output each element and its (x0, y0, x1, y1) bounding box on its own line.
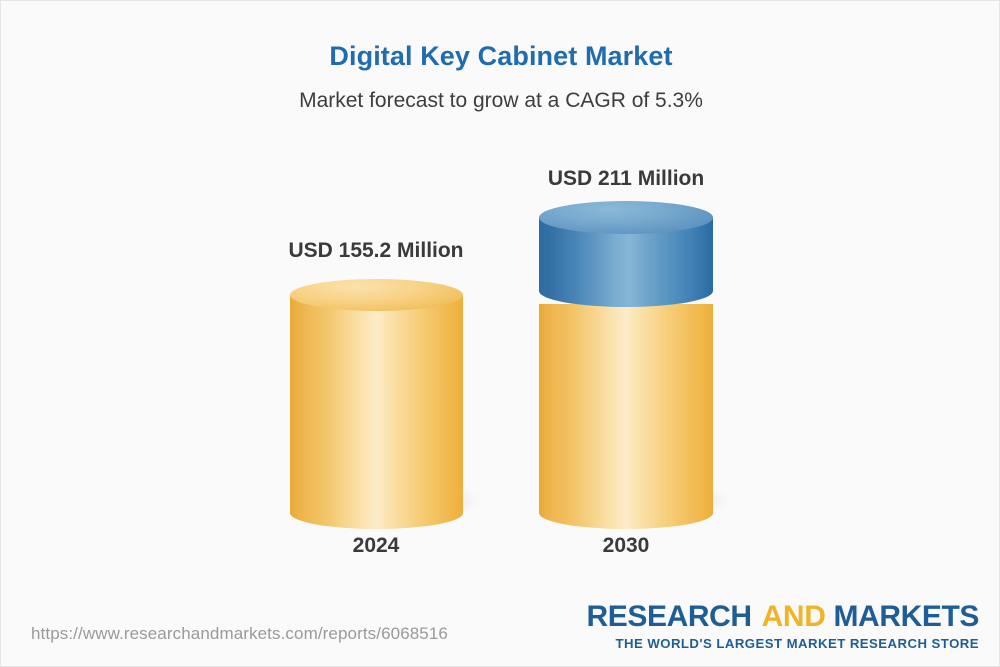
bar-segment-base-2030 (539, 304, 713, 514)
bar-body-2024 (290, 295, 463, 514)
bar-value-label-2030: USD 211 Million (476, 167, 776, 191)
bar-category-label-2030: 2030 (476, 534, 776, 558)
bar-top-cap-2024 (290, 279, 463, 311)
plot-area: USD 155.2 Million 2024 USD 211 Million (1, 1, 1000, 601)
logo-word-research: RESEARCH (587, 600, 752, 633)
chart-canvas: Digital Key Cabinet Market Market foreca… (0, 0, 1000, 667)
bar-segment-base-2024 (290, 295, 463, 514)
bar-cylinder-2030[interactable] (539, 201, 713, 514)
research-and-markets-logo[interactable]: RESEARCHANDMARKETS THE WORLD'S LARGEST M… (587, 602, 979, 650)
bar-top-cap-2030 (539, 201, 713, 234)
bar-body-yellow-2030 (539, 304, 713, 514)
logo-word-and: AND (762, 600, 826, 633)
bar-value-label-2024: USD 155.2 Million (226, 239, 526, 263)
logo-tagline: THE WORLD'S LARGEST MARKET RESEARCH STOR… (587, 637, 979, 650)
bar-cylinder-2024[interactable] (290, 279, 463, 514)
report-url[interactable]: https://www.researchandmarkets.com/repor… (31, 624, 448, 644)
logo-word-markets: MARKETS (833, 600, 979, 633)
logo-wordmark: RESEARCHANDMARKETS (587, 602, 979, 632)
